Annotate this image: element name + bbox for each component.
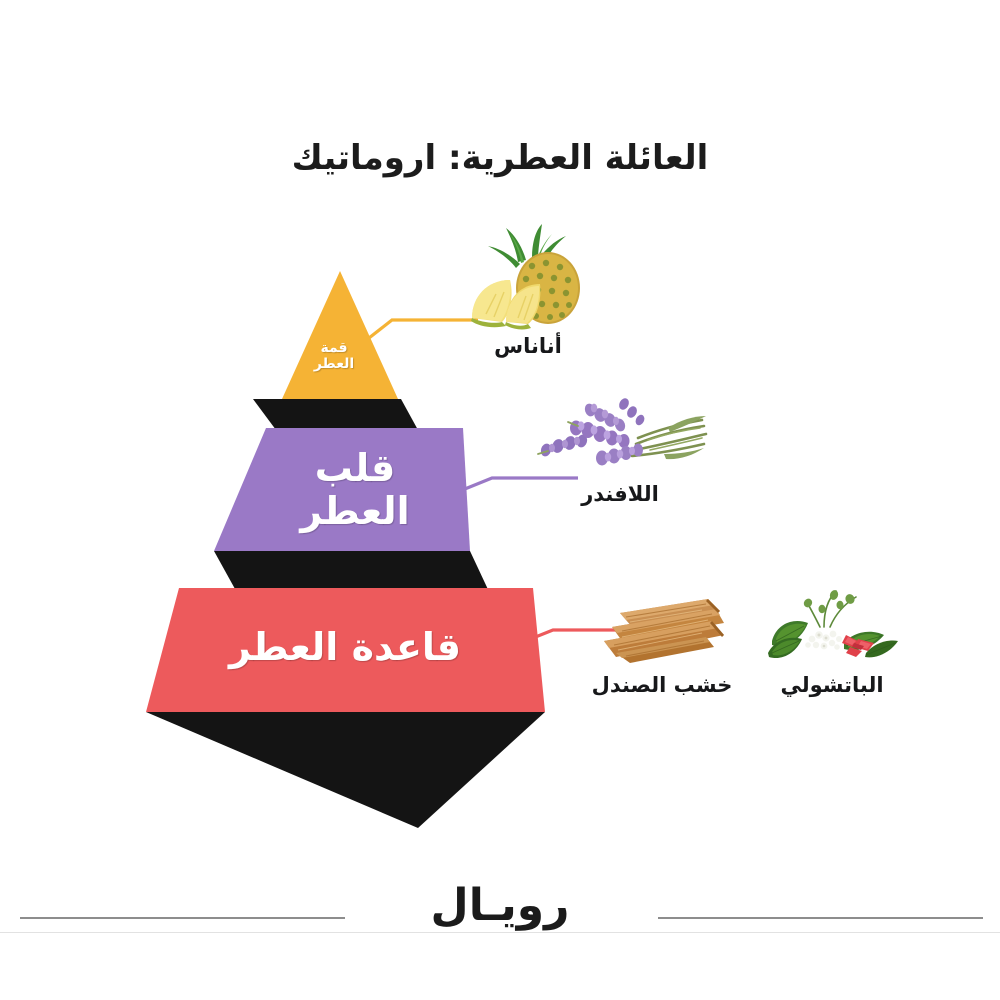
heart-tier-shape (214, 428, 470, 551)
top-tier-shadow (253, 399, 418, 430)
ingredient-sandalwood (596, 583, 728, 673)
lavender-icon (528, 388, 710, 488)
pyramid-diagram (0, 0, 1000, 1000)
ingredient-pineapple (462, 222, 594, 334)
ingredient-label-lavender: اللافندر (544, 482, 696, 506)
top-tier-shape (282, 271, 398, 399)
ingredient-patchouli (766, 583, 898, 673)
ingredient-label-sandalwood: خشب الصندل (586, 673, 738, 697)
patchouli-icon (766, 583, 898, 673)
ingredient-lavender (528, 388, 710, 488)
base-tier-shadow (146, 712, 545, 828)
pineapple-icon (462, 222, 594, 334)
ingredient-label-patchouli: الباتشولي (766, 673, 898, 697)
fragrance-pyramid-infographic: العائلة العطرية: اروماتيك قمة العطر (0, 0, 1000, 1000)
sandalwood-icon (596, 583, 728, 673)
brand-name: رويـال (0, 880, 1000, 931)
ingredient-label-pineapple: أناناس (452, 334, 604, 358)
base-tier-shape (146, 588, 545, 712)
footer-bottom-rule (0, 932, 1000, 933)
